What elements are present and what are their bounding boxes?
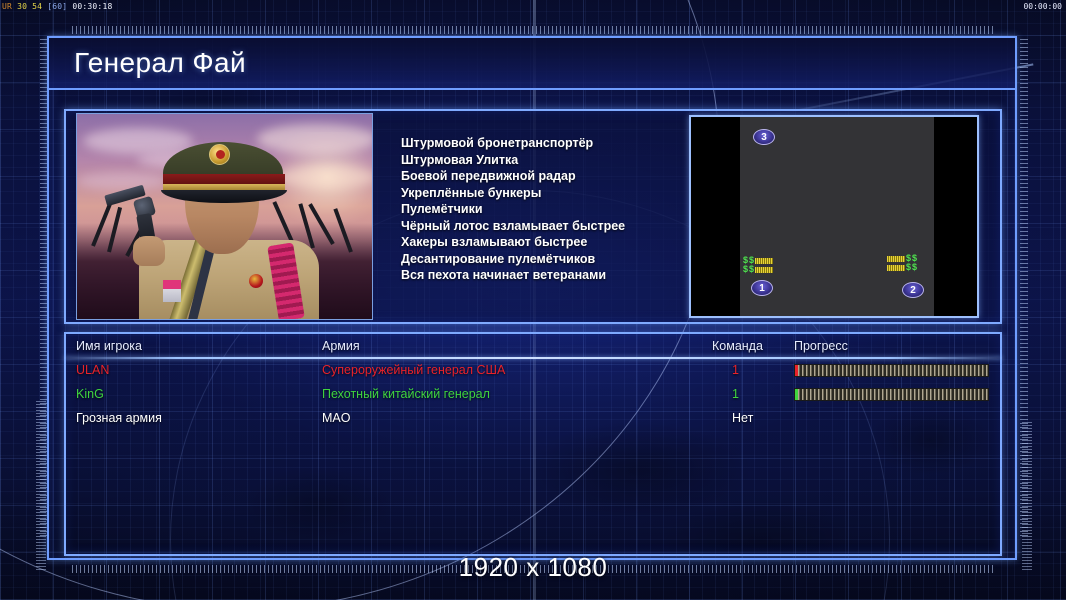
players-table-body: ULAN Супероружейный генерал США 1 KinG П… <box>64 361 1002 556</box>
ruler-left <box>40 36 48 536</box>
player-name: Грозная армия <box>76 411 162 425</box>
hud-clock: 00:00:00 <box>1023 0 1062 13</box>
hud-stat-ur: UR <box>2 2 12 11</box>
ability-item: Хакеры взламывают быстрее <box>401 234 683 251</box>
ruler-left-lower <box>36 400 46 570</box>
portrait-cloud <box>277 166 373 188</box>
column-header-progress: Прогресс <box>794 339 848 353</box>
minimap-resource-icon: $ <box>749 266 754 273</box>
portrait-cap-emblem <box>209 144 230 165</box>
ability-item: Чёрный лотос взламывает быстрее <box>401 218 683 235</box>
progress-fill <box>798 389 988 400</box>
ruler-top <box>72 26 996 34</box>
portrait-badge <box>249 274 263 288</box>
table-row[interactable]: Грозная армия MAO Нет <box>64 409 1002 433</box>
minimap-unit-row: $ $ <box>743 257 773 264</box>
minimap-start-position-2[interactable]: 2 <box>902 282 924 298</box>
portrait-cloud <box>257 124 373 154</box>
general-info-panel: Штурмовой бронетранспортёр Штурмовая Ули… <box>64 109 1002 324</box>
minimap-resource-icon: $ <box>912 255 917 262</box>
player-team: 1 <box>732 363 739 377</box>
minimap-unit-cluster: $ $ $ $ <box>887 255 917 271</box>
portrait-hand <box>133 236 165 266</box>
page-title: Генерал Фай <box>74 47 246 79</box>
ability-item: Штурмовая Улитка <box>401 152 683 169</box>
minimap-unit-row: $ $ <box>887 264 917 271</box>
player-progress-bar <box>794 364 989 377</box>
portrait-cloud <box>77 172 167 190</box>
minimap-resource-icon: $ <box>743 266 748 273</box>
player-progress-bar <box>794 388 989 401</box>
player-name: KinG <box>76 387 104 401</box>
ability-item: Штурмовой бронетранспортёр <box>401 135 683 152</box>
portrait-medal <box>163 280 181 302</box>
minimap-resource-icon: $ <box>749 257 754 264</box>
column-header-player: Имя игрока <box>76 339 142 353</box>
progress-cap <box>795 365 798 376</box>
minimap-resource-icon: $ <box>906 264 911 271</box>
players-table-header: Имя игрока Армия Команда Прогресс <box>64 338 1002 359</box>
hud-stat-elapsed: 00:30:18 <box>72 2 112 11</box>
hud-stat-ping: 54 <box>32 2 42 11</box>
minimap-unit-row: $ $ <box>887 255 917 262</box>
ruler-right <box>1020 36 1028 536</box>
resolution-caption: 1920 x 1080 <box>0 552 1066 583</box>
ability-item: Укреплённые бункеры <box>401 185 683 202</box>
general-portrait <box>76 113 373 320</box>
minimap-structure <box>755 258 773 264</box>
progress-fill <box>798 365 988 376</box>
minimap-start-position-1[interactable]: 1 <box>751 280 773 296</box>
title-bar: Генерал Фай <box>49 38 1015 90</box>
player-army: Супероружейный генерал США <box>322 363 505 377</box>
minimap-structure <box>755 267 773 273</box>
progress-cap <box>795 389 798 400</box>
ability-item: Десантирование пулемётчиков <box>401 251 683 268</box>
column-header-team: Команда <box>712 339 763 353</box>
player-army: Пехотный китайский генерал <box>322 387 490 401</box>
column-header-army: Армия <box>322 339 360 353</box>
table-row[interactable]: ULAN Супероружейный генерал США 1 <box>64 361 1002 385</box>
ability-item: Вся пехота начинает ветеранами <box>401 267 683 284</box>
minimap-unit-cluster: $ $ $ $ <box>743 257 773 273</box>
hud-stat-fps: 30 <box>17 2 27 11</box>
minimap[interactable]: 3 1 2 $ $ $ $ $ $ <box>689 115 979 318</box>
ruler-right-lower <box>1022 420 1032 570</box>
portrait-cap-brim <box>161 190 287 203</box>
portrait-image <box>77 114 372 319</box>
player-team: 1 <box>732 387 739 401</box>
ability-item: Боевой передвижной радар <box>401 168 683 185</box>
minimap-structure <box>887 265 905 271</box>
game-lobby-screen: UR 30 54 [60] 00:30:18 00:00:00 Генерал … <box>0 0 1066 600</box>
general-abilities-list: Штурмовой бронетранспортёр Штурмовая Ули… <box>373 111 683 322</box>
hud-left-stats: UR 30 54 [60] 00:30:18 <box>2 0 1066 13</box>
minimap-resource-icon: $ <box>906 255 911 262</box>
minimap-structure <box>887 256 905 262</box>
minimap-resource-icon: $ <box>743 257 748 264</box>
table-row[interactable]: KinG Пехотный китайский генерал 1 <box>64 385 1002 409</box>
hud-stat-bracket: [60] <box>47 2 67 11</box>
player-name: ULAN <box>76 363 109 377</box>
minimap-start-position-3[interactable]: 3 <box>753 129 775 145</box>
player-army: MAO <box>322 411 350 425</box>
minimap-unit-row: $ $ <box>743 266 773 273</box>
ability-item: Пулемётчики <box>401 201 683 218</box>
minimap-resource-icon: $ <box>912 264 917 271</box>
player-team: Нет <box>732 411 753 425</box>
